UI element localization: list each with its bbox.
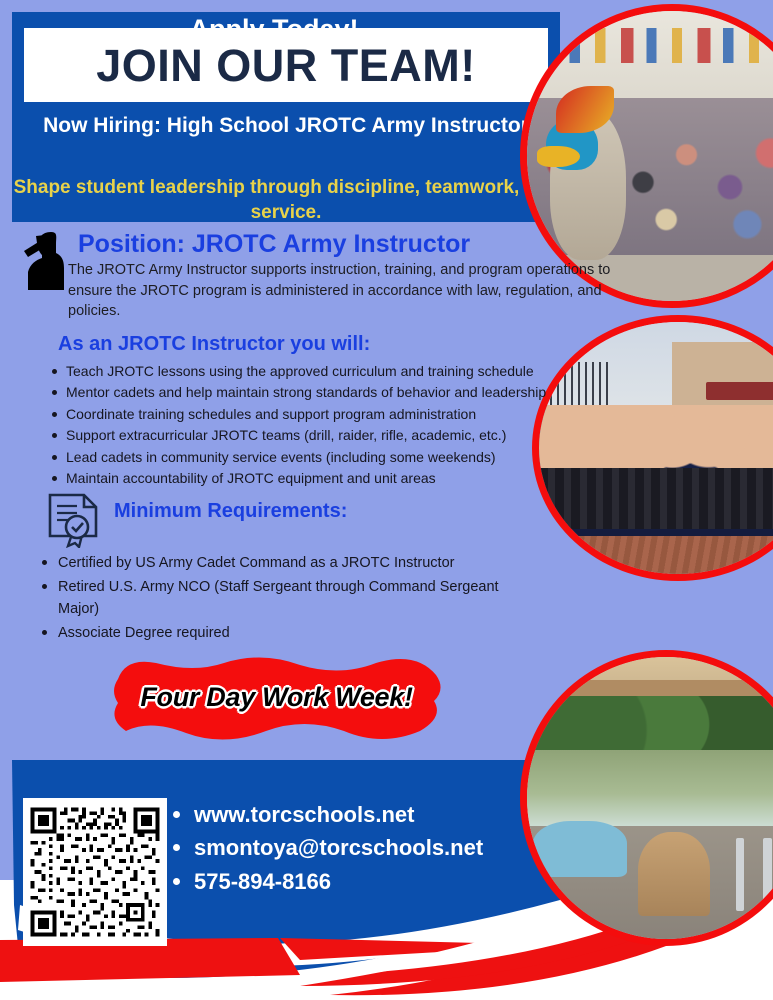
saluting-soldier-icon	[18, 228, 74, 290]
list-item: Lead cadets in community service events …	[52, 447, 582, 468]
list-item: Teach JROTC lessons using the approved c…	[52, 361, 582, 382]
list-item: Maintain accountability of JROTC equipme…	[52, 468, 582, 489]
contact-website[interactable]: www.torcschools.net	[170, 798, 550, 831]
list-item: Support extracurricular JROTC teams (dri…	[52, 425, 582, 446]
hiring-line: Now Hiring: High School JROTC Army Instr…	[12, 112, 560, 140]
position-description: The JROTC Army Instructor supports instr…	[68, 260, 643, 322]
list-item: Mentor cadets and help maintain strong s…	[52, 382, 582, 403]
list-item: Certified by US Army Cadet Command as a …	[36, 552, 516, 574]
requirements-list: Certified by US Army Cadet Command as a …	[36, 552, 516, 646]
list-item: Retired U.S. Army NCO (Staff Sergeant th…	[36, 576, 516, 620]
tagline: Shape student leadership through discipl…	[12, 176, 560, 225]
duties-list: Teach JROTC lessons using the approved c…	[30, 361, 582, 489]
river-hot-springs-photo	[520, 650, 773, 946]
qr-code-svg	[27, 802, 163, 942]
page-title: JOIN OUR TEAM!	[96, 43, 476, 88]
requirements-heading: Minimum Requirements:	[114, 500, 347, 523]
job-flyer: JOIN OUR TEAM! Now Hiring: High School J…	[0, 0, 773, 1000]
list-item: Associate Degree required	[36, 622, 516, 644]
four-day-work-week-banner: Four Day Work Week!	[104, 655, 449, 740]
four-day-work-week-label: Four Day Work Week!	[104, 655, 449, 740]
apply-heading: Apply Today!	[0, 14, 548, 45]
contact-phone[interactable]: 575-894-8166	[170, 865, 550, 898]
position-heading: Position: JROTC Army Instructor	[78, 230, 470, 259]
certificate-icon	[44, 490, 104, 548]
contact-email[interactable]: smontoya@torcschools.net	[170, 831, 550, 864]
contact-list: www.torcschools.net smontoya@torcschools…	[170, 798, 550, 898]
qr-code-icon[interactable]	[23, 798, 167, 946]
duties-heading: As an JROTC Instructor you will:	[58, 333, 370, 356]
list-item: Coordinate training schedules and suppor…	[52, 404, 582, 425]
